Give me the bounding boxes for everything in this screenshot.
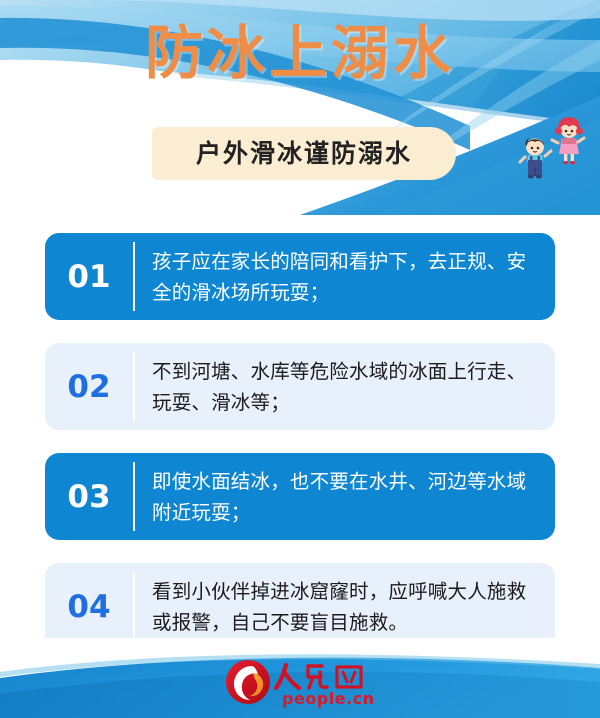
tips-list: 01 孩子应在家长的陪同和看护下，去正规、安全的滑冰场所玩耍； 02 不到河塘、… bbox=[45, 233, 555, 673]
tip-number: 03 bbox=[45, 453, 133, 540]
two-children-cartoon-icon bbox=[512, 112, 596, 190]
tip-text: 即使水面结冰，也不要在水井、河边等水域附近玩耍； bbox=[135, 453, 555, 540]
page-title: 防冰上溺水 bbox=[0, 22, 600, 84]
page-subtitle: 户外滑冰谨防溺水 bbox=[152, 127, 456, 180]
tip-card-03[interactable]: 03 即使水面结冰，也不要在水井、河边等水域附近玩耍； bbox=[45, 453, 555, 540]
people-cn-logo-icon: people.cn bbox=[224, 657, 384, 709]
tip-number: 04 bbox=[45, 563, 133, 650]
tip-number: 02 bbox=[45, 343, 133, 430]
tip-text: 看到小伙伴掉进冰窟窿时，应呼喊大人施救或报警，自己不要盲目施救。 bbox=[135, 563, 555, 650]
tip-text: 不到河塘、水库等危险水域的冰面上行走、玩耍、滑冰等； bbox=[135, 343, 555, 430]
tip-number: 01 bbox=[45, 233, 133, 320]
tip-card-02[interactable]: 02 不到河塘、水库等危险水域的冰面上行走、玩耍、滑冰等； bbox=[45, 343, 555, 430]
logo-wordmark: people.cn bbox=[282, 689, 375, 708]
tip-card-01[interactable]: 01 孩子应在家长的陪同和看护下，去正规、安全的滑冰场所玩耍； bbox=[45, 233, 555, 320]
boy-in-blue-overalls bbox=[520, 138, 551, 178]
poster-root: 防冰上溺水 户外滑冰谨防溺水 bbox=[0, 0, 600, 718]
tip-text: 孩子应在家长的陪同和看护下，去正规、安全的滑冰场所玩耍； bbox=[135, 233, 555, 320]
girl-in-pink-dress bbox=[552, 117, 584, 164]
tip-card-04[interactable]: 04 看到小伙伴掉进冰窟窿时，应呼喊大人施救或报警，自己不要盲目施救。 bbox=[45, 563, 555, 650]
